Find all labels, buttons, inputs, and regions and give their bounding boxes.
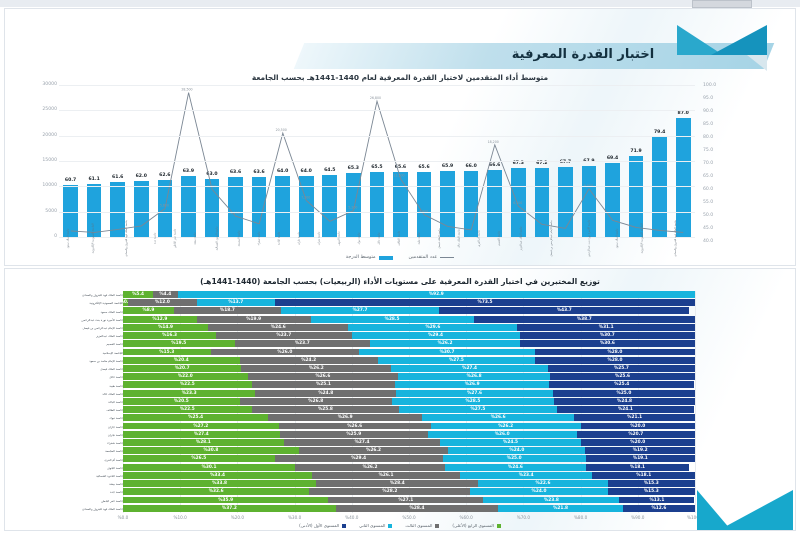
chart2-legend-item[interactable]: المستوى الرابع (الأعلى) (452, 523, 500, 528)
chart2-segment[interactable]: %18.1 (586, 464, 690, 471)
chart2-stacked-row[interactable]: %8.9%18.7%27.7%43.7 (123, 307, 695, 314)
chart2-segment[interactable]: %26.6 (248, 373, 399, 380)
legend-swatch-icon (497, 524, 501, 528)
chart2-stacked-row[interactable]: %20.4%24.2%27.5%28.0 (123, 357, 695, 364)
chart2-segment[interactable]: %21.8 (498, 505, 623, 512)
chart2-segment-value: %24.1 (618, 407, 633, 412)
chart1-category-label: جامعة المجمعة (239, 228, 242, 248)
chart2-segment-value: %73.5 (478, 300, 493, 305)
chart2-segment[interactable]: %5.4 (123, 291, 153, 298)
chart2-segment-value: %19.1 (633, 456, 648, 461)
chart2-x-tick: %60.0 (460, 515, 473, 520)
chart2-stacked-row[interactable]: %20.5%26.8%28.5%24.8 (123, 398, 695, 405)
chart2-segment[interactable]: %37.2 (123, 505, 336, 512)
chart2-row-label: جامعة الإمام محمد بن سعود (23, 359, 123, 363)
chart2-segment[interactable]: %26.0 (428, 431, 577, 438)
chart2-stacked-row[interactable]: %30.8%26.2%24.0%19.2 (123, 447, 695, 454)
chart2-segment[interactable]: %23.3 (123, 390, 255, 397)
chart2-stacked-row[interactable]: %22.0%26.6%26.8%25.6 (123, 373, 695, 380)
chart2-segment[interactable]: %19.9 (197, 316, 311, 323)
chart2-segment[interactable]: %12.0 (128, 299, 197, 306)
chart1-category-label-wrap: الجامعة السعودية الإلكترونية (79, 237, 109, 255)
chart2-segment-value: %24.0 (532, 489, 547, 494)
chart2-segment[interactable]: %26.9 (268, 414, 422, 421)
chart2-segment-value: %24.6 (508, 465, 523, 470)
chart1-category-label: جامعة نجران (319, 228, 322, 248)
chart2-segment[interactable]: %25.7 (548, 365, 695, 372)
chart2-segment-value: %26.0 (495, 432, 510, 437)
chart2-segment[interactable]: %22.5 (123, 406, 252, 413)
chart2-row-label: جامعة الجوف (23, 466, 123, 470)
chart2-segment[interactable]: %25.4 (549, 381, 694, 388)
y-axis-right-tick: 70.0 (703, 161, 713, 166)
chart2-row-label: الجامعة الإسلامية (23, 351, 123, 355)
chart2-segment[interactable]: %28.5 (392, 398, 554, 405)
chart2-segment[interactable]: %26.8 (240, 398, 392, 405)
chart2-segment[interactable]: %20.0 (581, 439, 695, 446)
chart2-segment[interactable]: %20.5 (123, 398, 240, 405)
chart2-segment-value: %26.2 (363, 465, 378, 470)
chart2-stacked-row[interactable]: %37.2%28.4%21.8%12.6 (123, 505, 695, 512)
chart2-segment[interactable]: %4.4 (153, 291, 178, 298)
chart2-segment[interactable]: %24.1 (557, 406, 695, 413)
chart1-category-label-wrap: جامعة نجران (310, 237, 330, 255)
chart2-row-label: جامعة القصيم (23, 342, 123, 346)
chart2-segment-value: %26.9 (465, 382, 480, 387)
chart2-segment[interactable]: %18.7 (174, 307, 281, 314)
chart1-category-label-wrap: جامعة الملك فيصل (430, 237, 450, 255)
chart2-stacked-row[interactable]: %23.3%24.8%27.6%25.0 (123, 390, 695, 397)
chart2-segment[interactable]: %29.4 (275, 455, 443, 462)
chart2-segment-value: %33.4 (210, 473, 225, 478)
chart2-stacked-row[interactable]: %22.5%25.1%26.9%25.4 (123, 381, 695, 388)
chart2-segment[interactable]: %28.1 (123, 439, 284, 446)
chart2-segment-value: %30.7 (600, 333, 615, 338)
chart2-segment[interactable]: %15.3 (123, 349, 211, 356)
chart2-segment[interactable]: %43.7 (439, 307, 689, 314)
chart1-category-label-wrap: جامعة جازان (290, 237, 310, 255)
chart2-segment[interactable]: %19.2 (585, 447, 695, 454)
chart2-segment[interactable]: %28.0 (535, 357, 695, 364)
chart2-segment[interactable]: %26.2 (295, 464, 445, 471)
chart2-segment[interactable]: %13.1 (619, 497, 694, 504)
chart2-segment[interactable]: %24.5 (440, 439, 580, 446)
chart1-line-point-label: 28,500 (181, 88, 192, 92)
chart1-category-label-wrap: جامعة حفر الباطن (166, 237, 186, 255)
chart2-segment[interactable]: %8.9 (123, 307, 174, 314)
chart2-segment-value: %25.7 (614, 366, 629, 371)
chart1-category-label-wrap: جامعة الجوف (330, 237, 350, 255)
chart2-row-label: جامعة بيشة (23, 482, 123, 486)
chart2-segment-value: %15.3 (644, 481, 659, 486)
chart2-stacked-row[interactable]: %12.9%19.9%28.5%38.7 (123, 316, 695, 323)
chart2-segment[interactable]: %19.5 (123, 340, 235, 347)
chart1-category-label: جامعة الطائف (399, 228, 402, 248)
chart2-segment-value: %25.6 (615, 374, 630, 379)
chart2-segment[interactable]: %13.7 (197, 299, 275, 306)
chart1-category-label-wrap: جامعة جدة (146, 237, 166, 255)
chart1-category-label-wrap: جامعة شقراء (250, 237, 270, 255)
chart2-stacked-row[interactable]: %33.8%28.4%22.6%15.3 (123, 480, 695, 487)
chart1-category-label: جامعة الملك سعود (68, 228, 71, 248)
chart2-segment[interactable]: %27.1 (328, 497, 483, 504)
chart2-segment-value: %26.2 (438, 341, 453, 346)
chart2-segment[interactable]: %25.8 (252, 406, 400, 413)
chart2-segment[interactable]: %29.4 (352, 332, 520, 339)
chart2-row-label: جامعة الملك فهد للبترول والمعادن (23, 507, 123, 511)
slide-performance-levels: توزيع المختبرين في اختبار القدرة المعرفي… (4, 268, 796, 531)
chart2-segment-value: %22.5 (180, 407, 195, 412)
gridline (59, 161, 695, 162)
chart2-segment[interactable]: %18.1 (592, 472, 695, 479)
chart1-line-point-label: 11,500 (393, 174, 404, 178)
chart2-segment[interactable]: %26.2 (370, 340, 520, 347)
chart1-line-point-label: 26,800 (370, 96, 381, 100)
chart1-category-label: جامعة بيشة (195, 228, 198, 248)
chart2-segment-value: %25.9 (346, 432, 361, 437)
chrome-button[interactable] (692, 0, 752, 8)
chart2-segment[interactable]: %23.7 (235, 340, 371, 347)
chart2-segment[interactable]: %28.0 (535, 349, 695, 356)
chart2-segment-value: %26.1 (379, 473, 394, 478)
chart2-title: توزيع المختبرين في اختبار القدرة المعرفي… (5, 277, 795, 286)
gridline (59, 186, 695, 187)
chart2-segment-value: %28.0 (607, 350, 622, 355)
chart1-category-label: جامعة الأميرة نورة بنت عبدالرحمن (588, 220, 591, 257)
gridline (59, 212, 695, 213)
chart2-segment[interactable]: %26.5 (123, 455, 275, 462)
legend-swatch-icon (435, 524, 439, 528)
chart2-plot-area: %5.4%4.4%92.9%0.9%12.0%13.7%73.5%8.9%18.… (123, 291, 695, 513)
chart2-segment-value: %25.4 (614, 382, 629, 387)
legend-swatch-icon (342, 524, 346, 528)
chart2-segment[interactable]: %30.1 (123, 464, 295, 471)
chart2-segment[interactable]: %26.2 (431, 423, 581, 430)
chart2-segment-value: %37.2 (222, 506, 237, 511)
chart2-segment-value: %27.6 (467, 391, 482, 396)
chart2-segment[interactable]: %26.2 (241, 365, 391, 372)
chart2-segment-value: %15.3 (159, 350, 174, 355)
chart1-plot-area: 87.079.471.969.467.967.767.267.366.666.0… (59, 85, 695, 237)
chart2-segment[interactable]: %32.6 (123, 488, 309, 495)
chart2-segment[interactable]: %28.4 (316, 480, 478, 487)
chart2-segment-value: %33.8 (212, 481, 227, 486)
chart1-category-label-wrap: جامعة الحدود الشمالية (206, 237, 230, 255)
window-chrome (0, 0, 800, 7)
y-axis-right-tick: 55.0 (703, 200, 713, 205)
chart1-category-label: جامعة الملك فهد للبترول والمعادن (126, 220, 129, 257)
chart2-segment[interactable]: %26.2 (299, 447, 449, 454)
y-axis-left-tick: 20000 (42, 133, 57, 138)
chart2-segment-value: %14.9 (158, 325, 173, 330)
y-axis-left-tick: 0 (54, 234, 57, 239)
chart2-stacked-row[interactable]: %0.9%12.0%13.7%73.5 (123, 299, 695, 306)
chart2-segment-value: %28.1 (196, 440, 211, 445)
y-axis-right-tick: 65.0 (703, 174, 713, 179)
chart2-segment[interactable]: %73.5 (275, 299, 695, 306)
chart2-legend: المستوى الرابع (الأعلى)المستوى الثالثالم… (5, 523, 795, 528)
chart2-row-label: جامعة الملك فيصل (23, 367, 123, 371)
chart2-segment[interactable]: %33.8 (123, 480, 316, 487)
chart2-segment[interactable]: %92.9 (178, 291, 695, 298)
chart2-segment[interactable]: %38.7 (474, 316, 695, 323)
chart2-x-tick: %80.0 (574, 515, 587, 520)
chart2-segment-value: %25.0 (617, 391, 632, 396)
chart2-segment-value: %26.0 (277, 350, 292, 355)
y-axis-right-tick: 50.0 (703, 213, 713, 218)
chart2-segment[interactable]: %33.4 (123, 472, 312, 479)
chart2-segment[interactable]: %31.1 (517, 324, 695, 331)
chart2-segment[interactable]: %24.0 (470, 488, 607, 495)
y-axis-left-tick: 30000 (42, 82, 57, 87)
chart2-segment[interactable]: %28.4 (336, 505, 498, 512)
chart2-segment[interactable]: %28.5 (311, 316, 474, 323)
chart2-segment[interactable]: %22.6 (478, 480, 607, 487)
chart2-segment[interactable]: %24.0 (448, 447, 585, 454)
chart2-segment[interactable]: %25.0 (443, 455, 586, 462)
chart2-segment[interactable]: %35.9 (123, 497, 328, 504)
chart2-segment[interactable]: %24.8 (554, 398, 695, 405)
chart2-segment[interactable]: %20.4 (123, 357, 240, 364)
chart2-row-label: جامعة شقراء (23, 441, 123, 445)
chart2-segment[interactable]: %27.4 (284, 439, 441, 446)
chart2-row-label: جامعة الملك خالد (23, 392, 123, 396)
chart2-x-tick: %90.0 (631, 515, 644, 520)
chart2-segment-value: %30.7 (440, 350, 455, 355)
chart2-segment[interactable]: %26.9 (395, 381, 549, 388)
chart2-segment[interactable]: %29.6 (348, 324, 517, 331)
legend-item-average[interactable]: متوسط الدرجة (346, 255, 393, 260)
chart2-x-tick: %30.0 (288, 515, 301, 520)
chart2-segment-value: %92.9 (429, 292, 444, 297)
chart1-title: متوسط أداء المتقدمين لاختبار القدرة المع… (5, 73, 795, 82)
chart1-category-label-wrap: جامعة طيبة (410, 237, 430, 255)
chart2-x-tick: %50.0 (402, 515, 415, 520)
chart2-segment[interactable]: %30.6 (520, 340, 695, 347)
bar-swatch-icon (379, 256, 393, 260)
chart2-segment[interactable]: %26.8 (398, 373, 550, 380)
y-axis-right-tick: 95.0 (703, 96, 713, 101)
chart2-segment[interactable]: %12.6 (623, 505, 695, 512)
chart2-segment[interactable]: %24.2 (240, 357, 378, 364)
chart1-category-label: جامعة تبوك (359, 228, 362, 248)
chart2-stacked-row[interactable]: %25.4%26.9%26.6%21.1 (123, 414, 695, 421)
chart2-segment-value: %29.4 (351, 456, 366, 461)
legend-label-applicants: عدد المتقدمين (409, 255, 438, 260)
chart1-category-label: جامعة شقراء (259, 228, 262, 248)
chart2-segment[interactable]: %25.9 (280, 431, 428, 438)
chart2-segment[interactable]: %27.5 (378, 357, 535, 364)
chart2-row-label: جامعة طيبة (23, 384, 123, 388)
chart2-segment-value: %32.6 (209, 489, 224, 494)
y-axis-right-tick: 100.0 (703, 83, 716, 88)
chart2-stacked-row[interactable]: %5.4%4.4%92.9 (123, 291, 695, 298)
chart2-segment[interactable]: %25.4 (123, 414, 268, 421)
chart2-segment-value: %23.8 (544, 498, 559, 503)
chart2-segment[interactable]: %24.6 (208, 324, 348, 331)
y-axis-right-tick: 85.0 (703, 122, 713, 127)
chart2-row-label: جامعة الإمام عبدالرحمن بن فيصل (23, 326, 123, 330)
chart2-segment[interactable]: %26.1 (312, 472, 460, 479)
chart2-row-label: جامعة المجمعة (23, 449, 123, 453)
chart2-segment[interactable]: %27.4 (391, 365, 548, 372)
chart2-segment[interactable]: %30.8 (123, 447, 299, 454)
chart2-segment[interactable]: %26.6 (279, 423, 431, 430)
chart2-legend-label: المستوى الثاني (359, 523, 385, 528)
chart1-line-point-label: 5,200 (348, 206, 357, 210)
chart2-segment[interactable]: %25.0 (553, 390, 695, 397)
chart2-segment[interactable]: %22.0 (123, 373, 248, 380)
chart2-segment-value: %28.5 (466, 399, 481, 404)
y-axis-right-tick: 90.0 (703, 109, 713, 114)
chart2-segment[interactable]: %27.7 (281, 307, 439, 314)
chart2-segment-value: %27.2 (193, 424, 208, 429)
chart2-segment[interactable]: %15.3 (608, 480, 695, 487)
chart2-stacked-row[interactable]: %32.6%28.2%24.0%15.3 (123, 488, 695, 495)
chart2-segment-value: %20.0 (630, 440, 645, 445)
chart1-category-label-wrap: جامعة الملك فهد للبترول والمعادن (109, 237, 146, 255)
chart2-segment-value: %24.5 (503, 440, 518, 445)
chart2-segment[interactable]: %14.9 (123, 324, 208, 331)
y-axis-right-tick: 80.0 (703, 135, 713, 140)
chart2-segment-value: %28.2 (382, 489, 397, 494)
chart2-segment[interactable]: %20.0 (581, 423, 695, 430)
chart2-segment[interactable]: %16.3 (123, 332, 216, 339)
chart2-segment[interactable]: %19.1 (586, 455, 695, 462)
chart2-segment[interactable]: %25.1 (252, 381, 396, 388)
chart2-segment[interactable]: %26.6 (422, 414, 574, 421)
chart2-segment[interactable]: %30.7 (359, 349, 535, 356)
chart2-segment[interactable]: %24.6 (445, 464, 586, 471)
chart2-segment[interactable]: %15.3 (608, 488, 695, 495)
chart2-segment-value: %20.7 (628, 432, 643, 437)
chart2-segment[interactable]: %23.7 (216, 332, 351, 339)
chart2-segment-value: %12.0 (155, 300, 170, 305)
chart2-segment[interactable]: %28.2 (309, 488, 470, 495)
chart1-category-label: جامعة أم القرى (479, 228, 482, 248)
chart2-x-tick: %70.0 (517, 515, 530, 520)
chart2-stacked-row[interactable]: %15.3%26.0%30.7%28.0 (123, 349, 695, 356)
chart2-stacked-row[interactable]: %26.5%29.4%25.0%19.1 (123, 455, 695, 462)
chart2-legend-item[interactable]: المستوى الثالث (405, 523, 439, 528)
chart2-segment[interactable]: %26.0 (211, 349, 360, 356)
chart2-stacked-row[interactable]: %30.1%26.2%24.6%18.1 (123, 464, 695, 471)
chart2-segment-value: %26.2 (366, 448, 381, 453)
chart2-stacked-row[interactable]: %35.9%27.1%23.8%13.1 (123, 497, 695, 504)
chart1-category-label: جامعة الملك خالد (459, 228, 462, 248)
chart2-segment[interactable]: %27.5 (399, 406, 556, 413)
y-axis-left-tick: 5000 (45, 209, 57, 214)
chart2-segment-value: %27.5 (470, 407, 485, 412)
legend-item-applicants[interactable]: عدد المتقدمين (409, 255, 455, 260)
chart2-legend-item[interactable]: المستوى الثاني (359, 523, 392, 528)
chart2-segment-value: %26.5 (191, 456, 206, 461)
chart2-stacked-row[interactable]: %20.7%26.2%27.4%25.7 (123, 365, 695, 372)
chart2-segment-value: %28.5 (385, 317, 400, 322)
chart2-segment[interactable]: %20.7 (123, 365, 241, 372)
chart1-category-label: جامعة طيبة (419, 228, 422, 248)
chart1-category-label: جامعة الملك فيصل (439, 228, 442, 248)
chart2-row-label: جامعة الأميرة نورة بنت عبدالرحمن (23, 318, 123, 322)
header-banner: اختبار القدرة المعرفية (265, 25, 785, 65)
chart1-category-label: جامعة الملك فهد للبترول والمعادن (675, 220, 678, 257)
chart2-segment[interactable]: %12.9 (123, 316, 197, 323)
chart1-category-label-wrap: جامعة الباحة (270, 237, 290, 255)
chart1-category-label-wrap: جامعة الملك خالد (450, 237, 470, 255)
chart2-segment[interactable]: %24.8 (255, 390, 396, 397)
chart2-stacked-row[interactable]: %19.5%23.7%26.2%30.6 (123, 340, 695, 347)
chart2-segment-value: %24.8 (617, 399, 632, 404)
chart2-stacked-row[interactable]: %22.5%25.8%27.5%24.1 (123, 406, 695, 413)
corner-triangle-right (719, 490, 793, 530)
chart1-category-label-wrap: جامعة القصيم (490, 237, 510, 255)
chart2-row-label: جامعة أم القرى (23, 458, 123, 462)
chart2-row-label: جامعة نجران (23, 433, 123, 437)
gridline (59, 85, 695, 86)
chart2-segment[interactable]: %25.6 (550, 373, 695, 380)
chart2-stacked-row[interactable]: %28.1%27.4%24.5%20.0 (123, 439, 695, 446)
chart2-stacked-row[interactable]: %14.9%24.6%29.6%31.1 (123, 324, 695, 331)
chart2-stacked-row[interactable]: %27.2%26.6%26.2%20.0 (123, 423, 695, 430)
chart2-segment-value: %29.4 (428, 333, 443, 338)
chart2-row-label: جامعة حفر الباطن (23, 499, 123, 503)
chart1-category-labels: جامعة الملك فهد للبترول والمعادنالجامعة … (59, 237, 695, 255)
chart2-stacked-row[interactable]: %16.3%23.7%29.4%30.7 (123, 332, 695, 339)
chart2-segment-value: %27.7 (353, 308, 368, 313)
chart1-line-point-label: 5,600 (160, 204, 169, 208)
chart2-stacked-row[interactable]: %33.4%26.1%23.4%18.1 (123, 472, 695, 479)
chart2-stacked-row[interactable]: %27.4%25.9%26.0%20.7 (123, 431, 695, 438)
chart1-category-label: الجامعة السعودية الإلكترونية (642, 223, 645, 253)
chart2-x-tick: %10.0 (174, 515, 187, 520)
chart2-segment-value: %22.6 (536, 481, 551, 486)
chart2-segment[interactable]: %23.4 (460, 472, 593, 479)
y-axis-right-tick: 45.0 (703, 226, 713, 231)
chart2-segment[interactable]: %27.2 (123, 423, 279, 430)
chart1-category-label-wrap: جامعة الملك عبدالعزيز (510, 237, 534, 255)
banner-triangle-shadow (747, 55, 767, 71)
chart2-segment[interactable]: %27.6 (396, 390, 553, 397)
chart2-segment[interactable]: %21.1 (574, 414, 695, 421)
chart2-segment-value: %25.4 (188, 415, 203, 420)
chart2-x-tick: %0.0 (118, 515, 129, 520)
chart2-row-label: جامعة جدة (23, 490, 123, 494)
chart2-segment-value: %25.1 (316, 382, 331, 387)
chart2-segment[interactable]: %27.4 (123, 431, 280, 438)
chart1-category-label-wrap: جامعة الطائف (390, 237, 410, 255)
chart2-segment[interactable]: %22.5 (123, 381, 252, 388)
chart2-segment-value: %21.8 (553, 506, 568, 511)
chart2-segment-value: %30.8 (203, 448, 218, 453)
chart2-segment-value: %28.4 (410, 506, 425, 511)
chart2-segment[interactable]: %23.8 (483, 497, 619, 504)
chart2-segment-value: %24.6 (271, 325, 286, 330)
gridline (59, 136, 695, 137)
chart2-segment[interactable]: %20.7 (577, 431, 695, 438)
chart2-segment-value: %18.7 (220, 308, 235, 313)
chart2-segment-value: %19.9 (246, 317, 261, 322)
chart1-category-label-wrap: جامعة الملك سعود (59, 237, 79, 255)
chart2-segment-value: %35.9 (218, 498, 233, 503)
chart2-legend-item[interactable]: المستوى الأول (الأدنى) (299, 523, 346, 528)
chart2-segment-value: %22.0 (178, 374, 193, 379)
chart2-segment-value: %16.3 (162, 333, 177, 338)
chart2-row-label: جامعة تبوك (23, 416, 123, 420)
chart2-row-label: جامعة الحدود الشمالية (23, 474, 123, 478)
y-axis-left-tick: 10000 (42, 183, 57, 188)
chart2-row-label: جامعة الملك سعود (23, 310, 123, 314)
chart2-segment[interactable]: %30.7 (520, 332, 695, 339)
